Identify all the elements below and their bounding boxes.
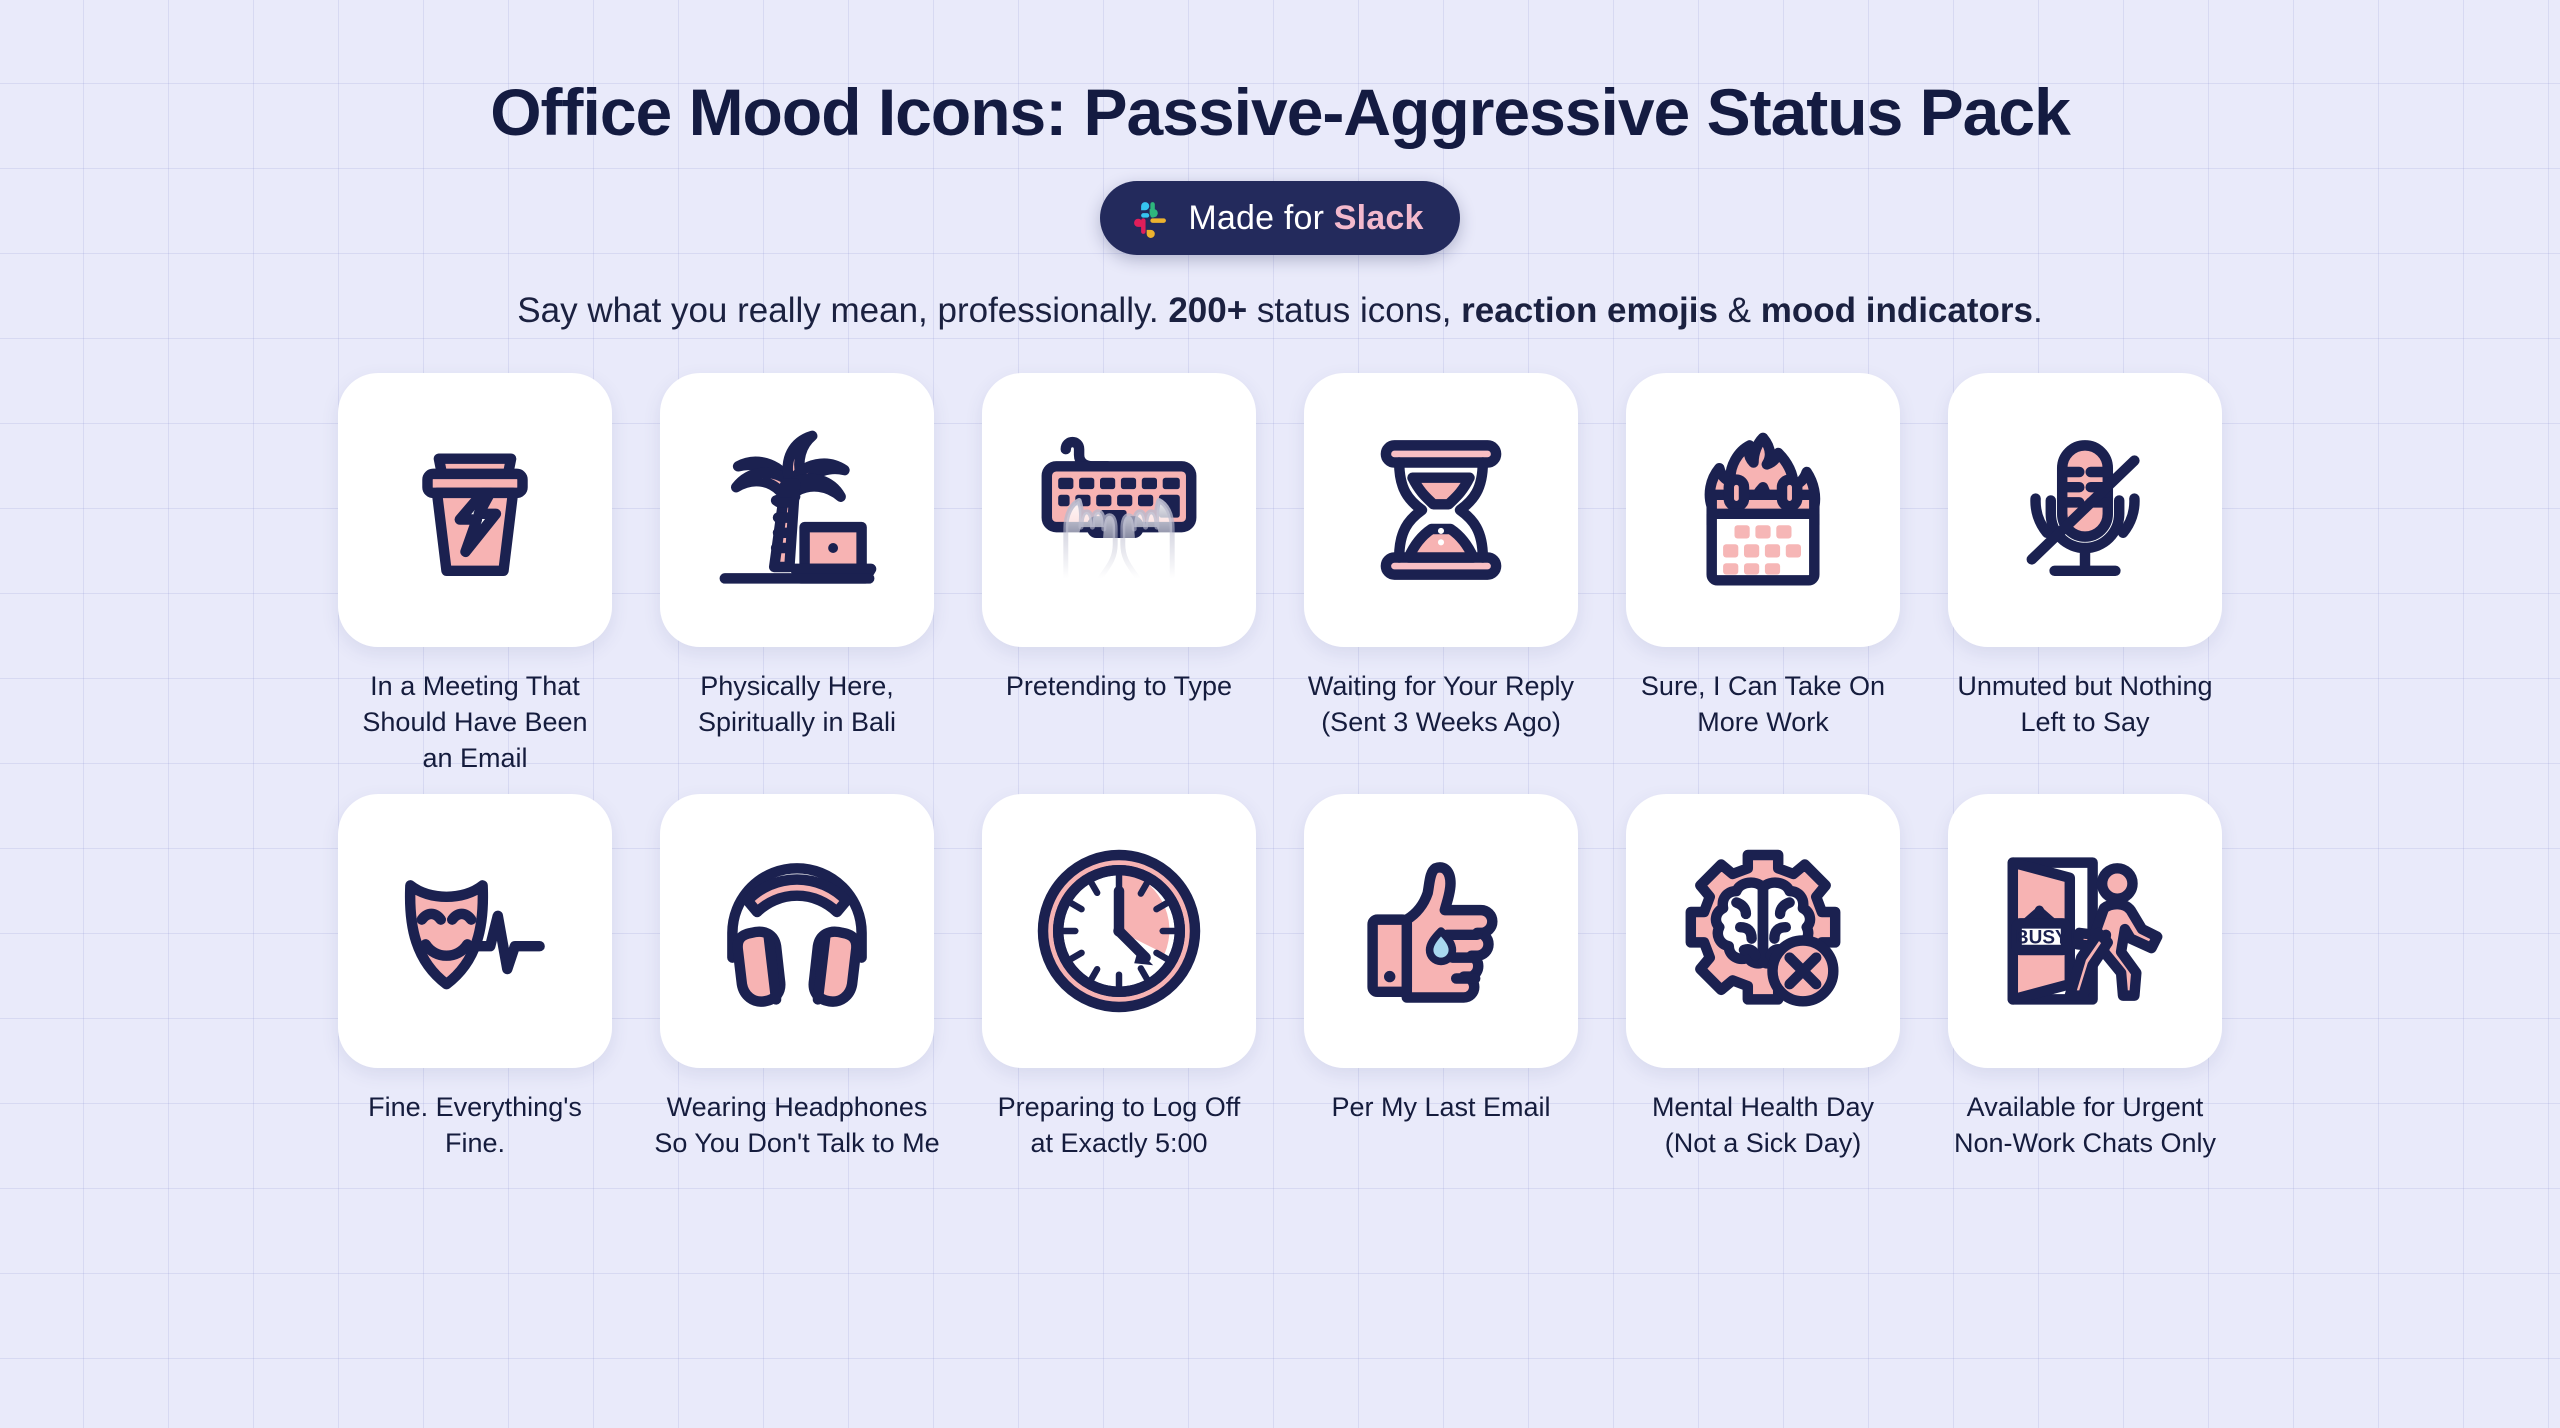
badge-brand: Slack	[1334, 199, 1424, 237]
page-subtitle: Say what you really mean, professionally…	[517, 291, 2042, 331]
busy-sign-text: BUSY	[2015, 928, 2068, 949]
icon-card[interactable]: Waiting for Your Reply (Sent 3 Weeks Ago…	[1294, 373, 1588, 776]
poster-page: Office Mood Icons: Passive-Aggressive St…	[0, 0, 2560, 1428]
icon-card[interactable]: Preparing to Log Off at Exactly 5:00	[972, 794, 1266, 1161]
icon-tile[interactable]	[660, 373, 934, 647]
headphones-icon	[702, 836, 892, 1026]
icon-label: Preparing to Log Off at Exactly 5:00	[969, 1090, 1269, 1161]
smiling-mask-heartbeat-icon	[380, 836, 570, 1026]
icon-tile[interactable]	[660, 794, 934, 1068]
icon-card[interactable]: BUSY Available for Urgent Non-Work Chats…	[1938, 794, 2232, 1161]
icon-grid: In a Meeting That Should Have Been an Em…	[328, 373, 2232, 1161]
icon-label: Available for Urgent Non-Work Chats Only	[1935, 1090, 2235, 1161]
badge-prefix: Made for	[1188, 199, 1333, 237]
icon-card[interactable]: Per My Last Email	[1294, 794, 1588, 1161]
wall-clock-icon	[1024, 836, 1214, 1026]
badge-label: Made for Slack	[1188, 199, 1423, 238]
icon-label: Waiting for Your Reply (Sent 3 Weeks Ago…	[1291, 669, 1591, 740]
subtitle-part3: &	[1718, 291, 1761, 330]
icon-tile[interactable]	[1304, 794, 1578, 1068]
thumbs-up-sweat-icon	[1346, 836, 1536, 1026]
page-title: Office Mood Icons: Passive-Aggressive St…	[490, 78, 2070, 147]
subtitle-bold3: mood indicators	[1761, 291, 2033, 330]
subtitle-bold1: 200+	[1168, 291, 1247, 330]
coffee-cup-lightning-icon	[380, 415, 570, 605]
icon-label: Mental Health Day (Not a Sick Day)	[1613, 1090, 1913, 1161]
icon-label: Wearing Headphones So You Don't Talk to …	[647, 1090, 947, 1161]
subtitle-part2: status icons,	[1247, 291, 1461, 330]
icon-label: Unmuted but Nothing Left to Say	[1935, 669, 2235, 740]
subtitle-part1: Say what you really mean, professionally…	[517, 291, 1168, 330]
palm-tree-laptop-icon	[702, 415, 892, 605]
icon-tile[interactable]	[982, 794, 1256, 1068]
icon-label: Physically Here, Spiritually in Bali	[647, 669, 947, 740]
icon-card[interactable]: Fine. Everything's Fine.	[328, 794, 622, 1161]
icon-label: Pretending to Type	[969, 669, 1269, 705]
slack-logo-icon	[1130, 198, 1170, 238]
keyboard-ghost-hands-tile[interactable]	[982, 373, 1256, 647]
icon-tile[interactable]	[1626, 794, 1900, 1068]
icon-tile[interactable]	[1304, 373, 1578, 647]
busy-door-exit-icon: BUSY	[1990, 836, 2180, 1026]
icon-tile[interactable]	[338, 794, 612, 1068]
icon-card[interactable]: Sure, I Can Take On More Work	[1616, 373, 1910, 776]
icon-tile[interactable]	[1948, 373, 2222, 647]
brain-gear-disabled-icon	[1668, 836, 1858, 1026]
icon-label: In a Meeting That Should Have Been an Em…	[325, 669, 625, 776]
icon-card[interactable]: Unmuted but Nothing Left to Say	[1938, 373, 2232, 776]
icon-card[interactable]: Physically Here, Spiritually in Bali	[650, 373, 944, 776]
icon-card[interactable]: In a Meeting That Should Have Been an Em…	[328, 373, 622, 776]
icon-card[interactable]: Pretending to Type	[972, 373, 1266, 776]
icon-label: Sure, I Can Take On More Work	[1613, 669, 1913, 740]
muted-microphone-icon	[1990, 415, 2180, 605]
icon-label: Per My Last Email	[1291, 1090, 1591, 1126]
hourglass-icon	[1346, 415, 1536, 605]
busy-door-tile[interactable]: BUSY	[1948, 794, 2222, 1068]
icon-card[interactable]: Wearing Headphones So You Don't Talk to …	[650, 794, 944, 1161]
icon-tile[interactable]	[1626, 373, 1900, 647]
subtitle-bold2: reaction emojis	[1461, 291, 1718, 330]
subtitle-part4: .	[2033, 291, 2043, 330]
keyboard-ghost-hands-icon	[1024, 415, 1214, 605]
made-for-slack-badge[interactable]: Made for Slack	[1100, 181, 1459, 255]
icon-label: Fine. Everything's Fine.	[325, 1090, 625, 1161]
burning-calendar-icon	[1668, 415, 1858, 605]
icon-card[interactable]: Mental Health Day (Not a Sick Day)	[1616, 794, 1910, 1161]
icon-tile[interactable]	[338, 373, 612, 647]
